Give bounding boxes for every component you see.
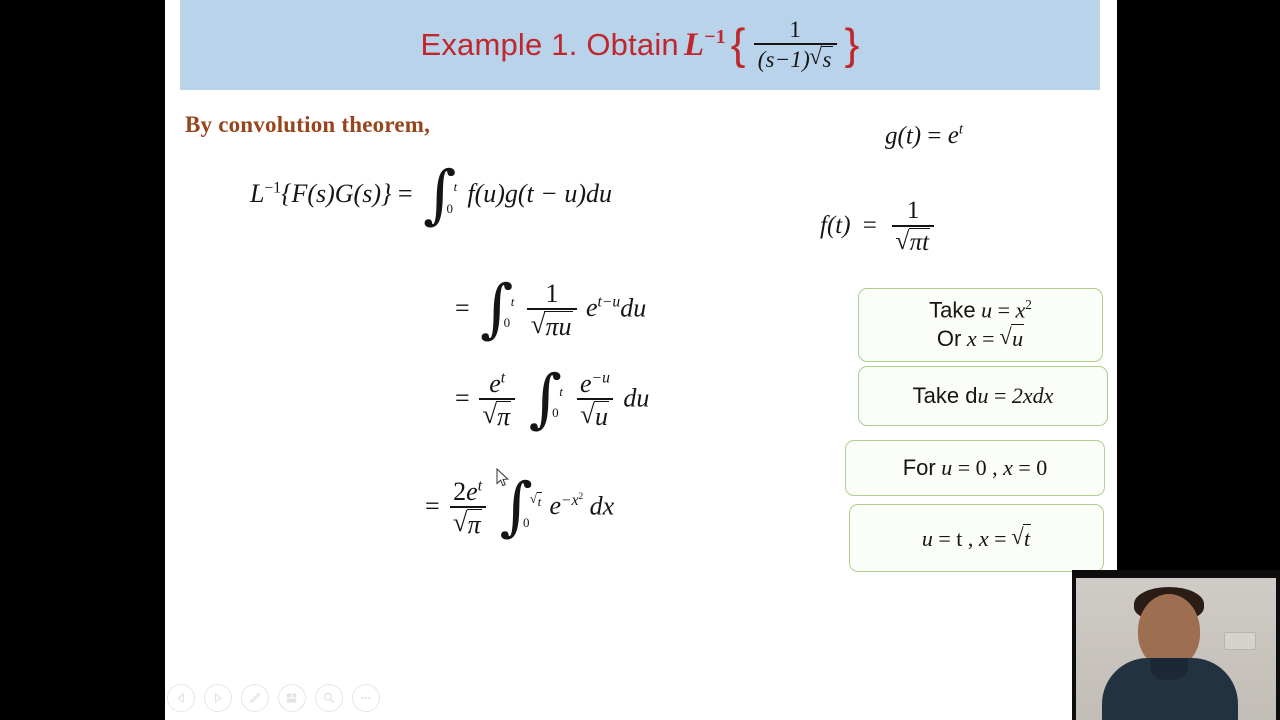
hint-box-upper-limit: u = t , x = t <box>849 504 1104 572</box>
webcam-video-frame <box>1076 578 1276 720</box>
presenter-face-shape <box>1138 594 1200 668</box>
next-slide-button[interactable] <box>204 684 232 712</box>
eq1-equals: = <box>398 179 413 208</box>
hint1-line1: Take u = x2 <box>929 297 1032 324</box>
convolution-theorem-heading: By convolution theorem, <box>185 112 430 138</box>
eq4-fraction: 2et π <box>449 478 486 539</box>
hint-box-differential: Take du = 2xdx <box>858 366 1108 426</box>
slideshow-toolbar[interactable] <box>165 684 380 712</box>
eq-f-numerator: 1 <box>903 198 924 225</box>
eq4-denominator: π <box>450 506 486 538</box>
eq2-differential: du <box>620 293 646 322</box>
hint4-line1: u = t , x = t <box>922 524 1031 553</box>
title-fraction: 1 (s−1)s <box>754 18 837 72</box>
eq-f-denominator: πt <box>892 225 934 256</box>
previous-slide-button[interactable] <box>167 684 195 712</box>
title-fraction-denominator: (s−1)s <box>754 43 837 72</box>
given-g-of-t: g(t) = et <box>885 122 963 150</box>
eq-g-rhs: et <box>948 122 963 149</box>
eq4-differential: dx <box>590 491 615 520</box>
eq3-inner-numerator: e−u <box>576 370 614 398</box>
eq4-integral: ∫ t0 <box>500 485 541 531</box>
eq2-integral-upper: t <box>511 294 518 310</box>
pen-tool-button[interactable] <box>241 684 269 712</box>
eq4-integral-lower: 0 <box>523 515 535 531</box>
eq3-inner-denominator: u <box>577 398 613 430</box>
ellipsis-icon <box>359 691 373 705</box>
eq3-differential: du <box>623 383 649 412</box>
slide-canvas: Example 1. Obtain L−1 { 1 (s−1)s } By co… <box>165 0 1117 720</box>
screen-root: Example 1. Obtain L−1 { 1 (s−1)s } By co… <box>0 0 1280 720</box>
eq-g-lhs: g(t) <box>885 122 921 149</box>
eq1-integral-lower: 0 <box>447 201 454 217</box>
title-brace-close: } <box>845 30 860 61</box>
more-options-button[interactable] <box>352 684 380 712</box>
eq-f-fraction: 1 πt <box>892 198 934 257</box>
title-prefix: Example 1. Obtain <box>420 27 678 63</box>
eq4-exponential: e−x2 <box>549 491 583 520</box>
title-brace-open: { <box>731 30 746 61</box>
hint-box-lower-limit: For u = 0 , x = 0 <box>845 440 1105 496</box>
wall-socket-shape <box>1224 632 1256 650</box>
eq1-operator: L−1 <box>250 179 281 208</box>
eq3-outer-numerator: et <box>485 370 509 398</box>
eq2-fraction-numerator: 1 <box>541 280 562 308</box>
hint2-line1: Take du = 2xdx <box>913 383 1054 410</box>
eq-f-equals: = <box>863 212 877 239</box>
hint-box-substitution: Take u = x2 Or x = u <box>858 288 1103 362</box>
eq3-integral-upper: t <box>559 384 566 400</box>
presenter-collar-shape <box>1150 658 1188 680</box>
grid-icon <box>285 691 299 705</box>
eq2-integral: ∫ t0 <box>480 287 516 333</box>
title-fraction-numerator: 1 <box>785 18 805 43</box>
eq4-integral-upper: t <box>530 492 542 510</box>
eq2-exponential: et−u <box>586 293 620 322</box>
mouse-cursor <box>496 468 510 488</box>
equation-convolution-definition: L−1{F(s)G(s)} = ∫ t0 f(u)g(t − u)du <box>250 173 612 219</box>
eq3-integral-lower: 0 <box>552 405 559 421</box>
eq3-outer-denominator: π <box>479 398 515 430</box>
eq-f-lhs: f(t) <box>820 212 851 239</box>
hint1-line2: Or x = u <box>937 324 1024 353</box>
equation-substitute-f-g: = ∫ t0 1 πu et−udu <box>455 280 646 341</box>
eq3-equals: = <box>455 383 470 412</box>
eq2-fraction: 1 πu <box>527 280 576 341</box>
eq4-exponent: −x2 <box>561 492 583 509</box>
eq1-lhs-body: {F(s)G(s)} <box>281 179 391 208</box>
title-operator: L−1 <box>684 26 726 64</box>
hint3-line1: For u = 0 , x = 0 <box>903 455 1048 482</box>
page-title: Example 1. Obtain L−1 { 1 (s−1)s } <box>420 18 859 72</box>
eq2-fraction-denominator: πu <box>527 308 576 340</box>
equation-error-function-form: = 2et π ∫ t0 e−x2 dx <box>425 478 614 539</box>
given-f-of-t: f(t) = 1 πt <box>820 198 937 257</box>
triangle-left-icon <box>175 692 187 704</box>
eq1-integral: ∫ t0 <box>423 173 459 219</box>
eq-g-equals: = <box>927 122 941 149</box>
eq2-equals: = <box>455 293 470 322</box>
equation-factored-exponential: = et π ∫ t0 e−u u du <box>455 370 649 431</box>
eq1-integrand: f(u)g(t − u)du <box>467 179 612 208</box>
eq4-numerator: 2et <box>449 478 486 506</box>
slide-title-band: Example 1. Obtain L−1 { 1 (s−1)s } <box>180 0 1100 90</box>
magnifier-icon <box>322 691 336 705</box>
eq3-inner-fraction: e−u u <box>576 370 614 431</box>
eq1-integral-upper: t <box>454 179 461 195</box>
pen-icon <box>248 691 262 705</box>
eq4-equals: = <box>425 491 440 520</box>
presenter-webcam-overlay[interactable] <box>1072 570 1280 720</box>
zoom-button[interactable] <box>315 684 343 712</box>
eq3-outer-fraction: et π <box>479 370 515 431</box>
eq3-integral: ∫ t0 <box>529 377 565 423</box>
all-slides-button[interactable] <box>278 684 306 712</box>
triangle-right-icon <box>212 692 224 704</box>
eq2-integral-lower: 0 <box>504 315 511 331</box>
